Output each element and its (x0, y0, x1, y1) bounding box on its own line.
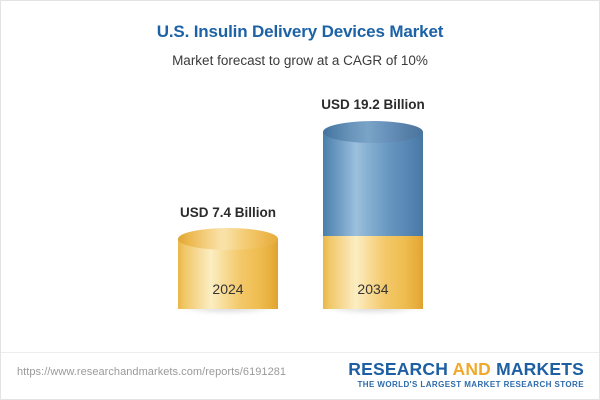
bar-value-label-2024: USD 7.4 Billion (180, 205, 276, 220)
axis-label-2034: 2034 (357, 281, 388, 297)
logo-word-markets: MARKETS (496, 359, 584, 379)
plot-area: USD 7.4 Billion 2024 USD 19.2 Billion 20… (1, 1, 600, 353)
axis-label-2024: 2024 (212, 281, 243, 297)
logo-word-and: AND (452, 359, 491, 379)
chart-screenshot: U.S. Insulin Delivery Devices Market Mar… (0, 0, 600, 400)
report-url[interactable]: https://www.researchandmarkets.com/repor… (17, 366, 286, 378)
brand-logo[interactable]: RESEARCH AND MARKETS THE WORLD'S LARGEST… (348, 360, 584, 389)
logo-word-research: RESEARCH (348, 359, 448, 379)
bar-value-label-2034: USD 19.2 Billion (321, 97, 425, 112)
cylinder-top-cap (178, 228, 278, 250)
cylinder-top-cap (323, 121, 423, 143)
footer: https://www.researchandmarkets.com/repor… (1, 352, 599, 399)
cylinder-body-growth (323, 132, 423, 236)
logo-tagline: THE WORLD'S LARGEST MARKET RESEARCH STOR… (348, 380, 584, 389)
logo-wordmark: RESEARCH AND MARKETS (348, 360, 584, 378)
